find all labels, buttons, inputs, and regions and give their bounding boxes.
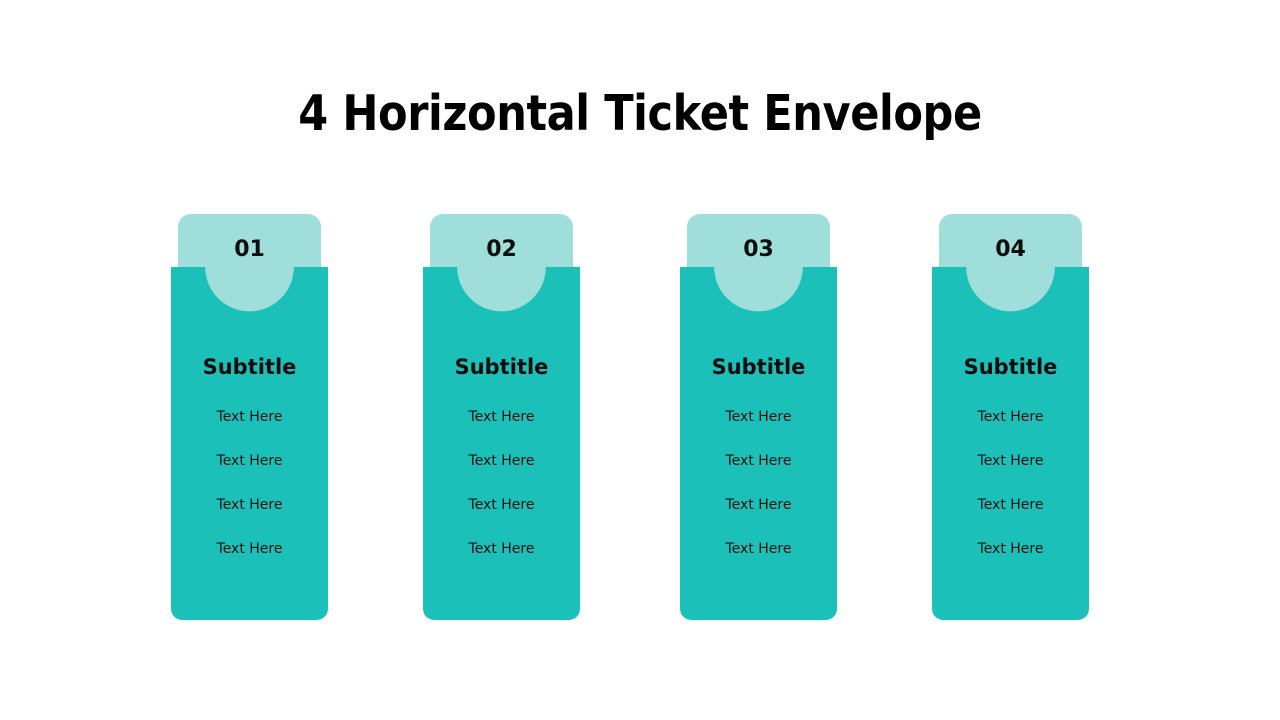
ticket-line: Text Here [423, 452, 580, 470]
ticket-line: Text Here [932, 452, 1089, 470]
ticket-line-list: Text Here Text Here Text Here Text Here [680, 408, 837, 558]
ticket-card-list: 01 Subtitle Text Here Text Here Text Her… [0, 0, 1280, 720]
ticket-line: Text Here [932, 408, 1089, 426]
ticket-line: Text Here [680, 496, 837, 514]
ticket-line: Text Here [680, 408, 837, 426]
ticket-line: Text Here [680, 452, 837, 470]
ticket-subtitle: Subtitle [423, 354, 580, 380]
ticket-line-list: Text Here Text Here Text Here Text Here [423, 408, 580, 558]
ticket-number: 03 [680, 237, 837, 263]
ticket-card-01[interactable]: 01 Subtitle Text Here Text Here Text Her… [171, 214, 328, 620]
ticket-subtitle: Subtitle [680, 354, 837, 380]
ticket-line-list: Text Here Text Here Text Here Text Here [171, 408, 328, 558]
ticket-text-block: Subtitle Text Here Text Here Text Here T… [423, 354, 580, 558]
ticket-text-block: Subtitle Text Here Text Here Text Here T… [680, 354, 837, 558]
ticket-subtitle: Subtitle [171, 354, 328, 380]
ticket-card-02[interactable]: 02 Subtitle Text Here Text Here Text Her… [423, 214, 580, 620]
ticket-number: 01 [171, 237, 328, 263]
ticket-text-block: Subtitle Text Here Text Here Text Here T… [171, 354, 328, 558]
slide-canvas: 4 Horizontal Ticket Envelope 01 Subtitle… [0, 0, 1280, 720]
ticket-card-03[interactable]: 03 Subtitle Text Here Text Here Text Her… [680, 214, 837, 620]
ticket-line: Text Here [171, 540, 328, 558]
ticket-line: Text Here [680, 540, 837, 558]
ticket-card-04[interactable]: 04 Subtitle Text Here Text Here Text Her… [932, 214, 1089, 620]
ticket-line: Text Here [423, 540, 580, 558]
ticket-number: 04 [932, 237, 1089, 263]
ticket-text-block: Subtitle Text Here Text Here Text Here T… [932, 354, 1089, 558]
ticket-line: Text Here [423, 496, 580, 514]
ticket-line-list: Text Here Text Here Text Here Text Here [932, 408, 1089, 558]
ticket-number: 02 [423, 237, 580, 263]
ticket-line: Text Here [171, 496, 328, 514]
ticket-line: Text Here [171, 408, 328, 426]
ticket-line: Text Here [932, 540, 1089, 558]
ticket-line: Text Here [171, 452, 328, 470]
ticket-line: Text Here [423, 408, 580, 426]
ticket-subtitle: Subtitle [932, 354, 1089, 380]
ticket-line: Text Here [932, 496, 1089, 514]
